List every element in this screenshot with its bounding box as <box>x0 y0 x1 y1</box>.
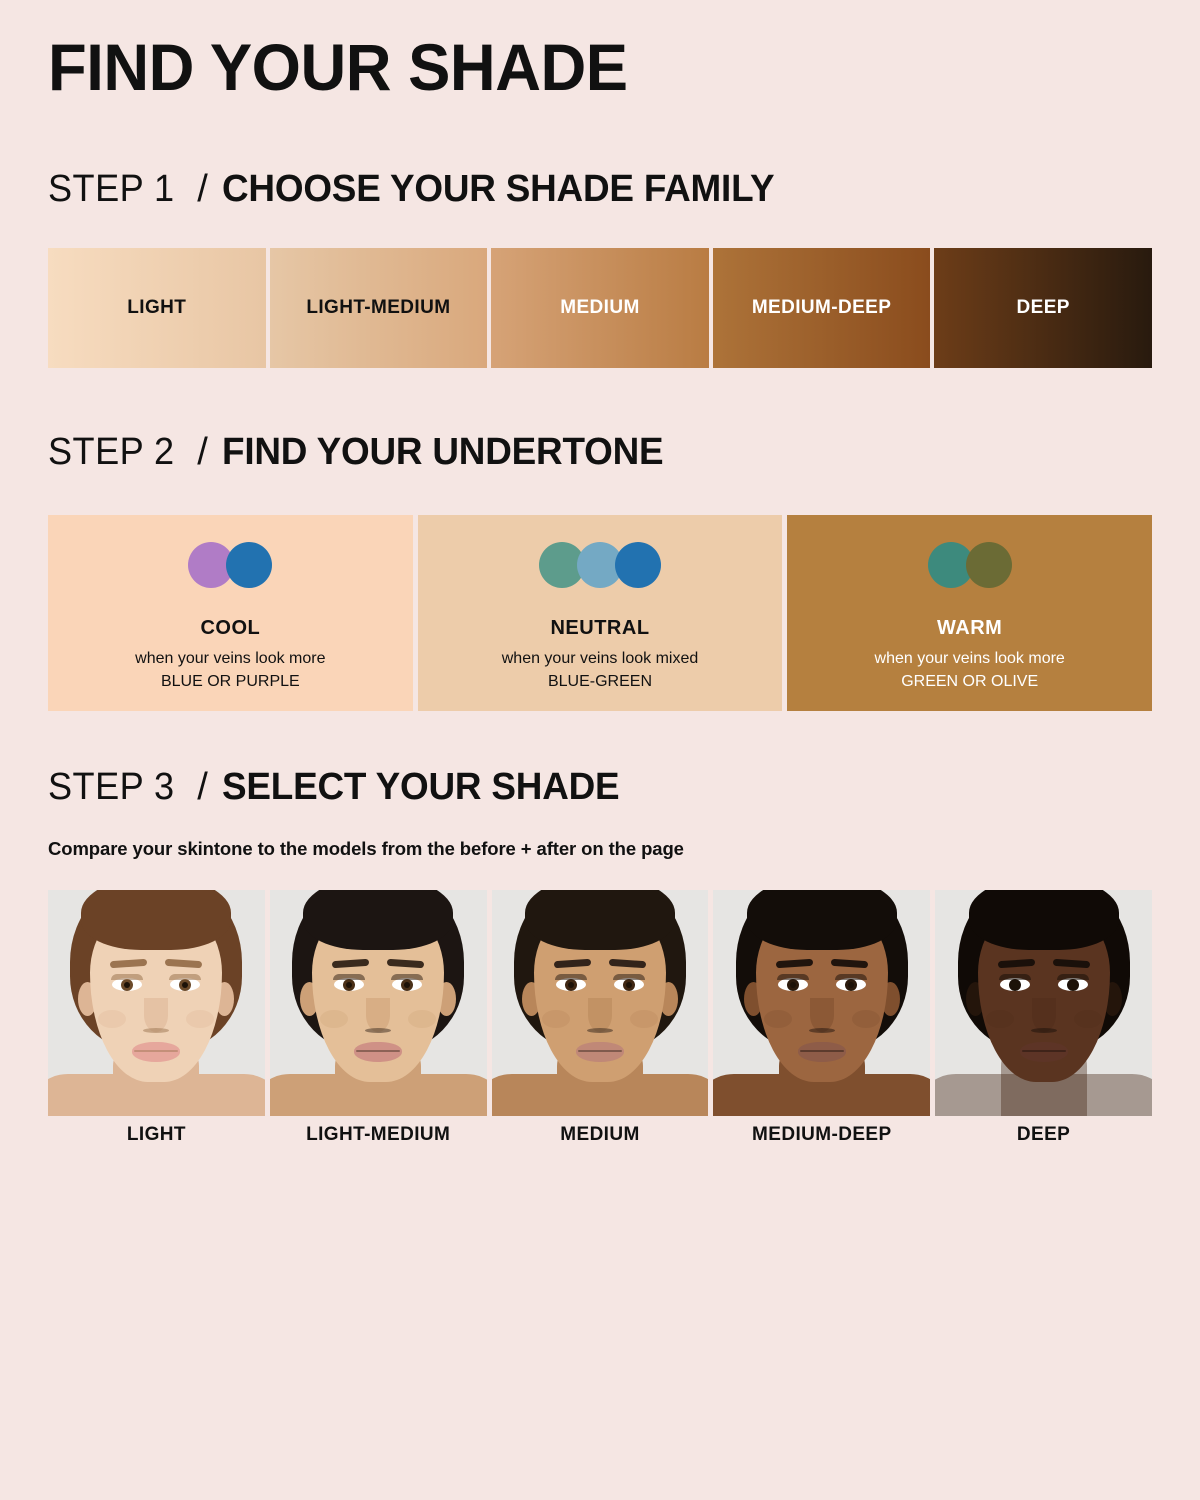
model-nostrils <box>809 1028 835 1033</box>
model-iris <box>787 979 799 991</box>
undertone-description-line-1: when your veins look mixed <box>502 648 699 671</box>
undertone-panel[interactable]: COOLwhen your veins look moreBLUE OR PUR… <box>48 515 413 711</box>
step-2-separator: / <box>197 431 208 474</box>
step-1-number: STEP 1 <box>48 168 175 211</box>
step-3-title: SELECT YOUR SHADE <box>222 766 619 809</box>
shade-family-swatch[interactable]: MEDIUM-DEEP <box>713 248 931 368</box>
model-lip-line <box>134 1050 178 1052</box>
model-iris <box>121 979 133 991</box>
step-1-title: CHOOSE YOUR SHADE FAMILY <box>222 168 774 211</box>
model-cheek-left <box>542 1010 570 1028</box>
model-eyelid-right <box>169 974 201 980</box>
step-2-heading: STEP 2 / FIND YOUR UNDERTONE <box>48 431 677 474</box>
model-photo[interactable] <box>935 890 1152 1116</box>
model-hairline <box>81 890 231 950</box>
shade-family-label: DEEP <box>1017 297 1070 319</box>
undertone-description-line-1: when your veins look more <box>875 648 1065 671</box>
model-eyelid-left <box>555 974 587 980</box>
model-cheek-left <box>320 1010 348 1028</box>
model-eyelid-right <box>391 974 423 980</box>
model-cheek-right <box>852 1010 880 1028</box>
model-eyelid-left <box>333 974 365 980</box>
model-nostrils <box>365 1028 391 1033</box>
model-photo[interactable] <box>713 890 930 1116</box>
model-iris <box>565 979 577 991</box>
undertone-color-dot <box>226 542 272 588</box>
undertone-color-dot <box>966 542 1012 588</box>
undertone-description: when your veins look mixedBLUE-GREEN <box>502 648 699 693</box>
model-shade-label: LIGHT-MEDIUM <box>270 1124 487 1156</box>
undertone-description: when your veins look moreBLUE OR PURPLE <box>135 648 325 693</box>
undertone-color-dot <box>615 542 661 588</box>
model-iris <box>179 979 191 991</box>
page-title: FIND YOUR SHADE <box>48 34 628 100</box>
shade-family-label: MEDIUM <box>560 297 639 319</box>
model-eyelid-left <box>777 974 809 980</box>
step-3-number: STEP 3 <box>48 766 175 809</box>
model-cheek-left <box>764 1010 792 1028</box>
shade-family-swatch[interactable]: LIGHT-MEDIUM <box>270 248 488 368</box>
model-hairline <box>525 890 675 950</box>
model-lips <box>1020 1042 1068 1062</box>
model-cheek-right <box>630 1010 658 1028</box>
model-lips <box>576 1042 624 1062</box>
model-lip-line <box>800 1050 844 1052</box>
model-shade-label: DEEP <box>935 1124 1152 1156</box>
undertone-panel-row: COOLwhen your veins look moreBLUE OR PUR… <box>48 515 1152 711</box>
model-iris <box>1009 979 1021 991</box>
model-cheek-right <box>1074 1010 1102 1028</box>
model-hairline <box>303 890 453 950</box>
step-3-heading: STEP 3 / SELECT YOUR SHADE <box>48 766 632 809</box>
model-hairline <box>969 890 1119 950</box>
model-label-row: LIGHTLIGHT-MEDIUMMEDIUMMEDIUM-DEEPDEEP <box>48 1124 1152 1156</box>
shade-family-label: MEDIUM-DEEP <box>752 297 892 319</box>
shade-family-swatch[interactable]: LIGHT <box>48 248 266 368</box>
model-cheek-left <box>986 1010 1014 1028</box>
shade-family-swatch[interactable]: DEEP <box>934 248 1152 368</box>
model-iris <box>343 979 355 991</box>
undertone-description-line-2: GREEN OR OLIVE <box>875 671 1065 694</box>
model-lip-line <box>1022 1050 1066 1052</box>
undertone-panel[interactable]: NEUTRALwhen your veins look mixedBLUE-GR… <box>418 515 783 711</box>
model-eyelid-right <box>835 974 867 980</box>
shade-family-swatch[interactable]: MEDIUM <box>491 248 709 368</box>
model-iris <box>623 979 635 991</box>
undertone-panel[interactable]: WARMwhen your veins look moreGREEN OR OL… <box>787 515 1152 711</box>
model-nose <box>810 998 834 1032</box>
undertone-description: when your veins look moreGREEN OR OLIVE <box>875 648 1065 693</box>
model-hairline <box>747 890 897 950</box>
model-shade-label: MEDIUM <box>492 1124 709 1156</box>
model-photo-row <box>48 890 1152 1116</box>
model-lip-line <box>356 1050 400 1052</box>
step-1-separator: / <box>197 168 208 211</box>
undertone-name: NEUTRAL <box>550 617 649 640</box>
step-3-separator: / <box>197 766 208 809</box>
model-lips <box>354 1042 402 1062</box>
shade-family-bar: LIGHTLIGHT-MEDIUMMEDIUMMEDIUM-DEEPDEEP <box>48 248 1152 368</box>
undertone-vein-color-icon <box>539 542 661 588</box>
model-photo[interactable] <box>270 890 487 1116</box>
undertone-name: WARM <box>937 617 1002 640</box>
model-photo[interactable] <box>48 890 265 1116</box>
model-shade-label: MEDIUM-DEEP <box>713 1124 930 1156</box>
undertone-description-line-2: BLUE OR PURPLE <box>135 671 325 694</box>
step-2-title: FIND YOUR UNDERTONE <box>222 431 663 474</box>
shade-finder-page: FIND YOUR SHADE STEP 1 / CHOOSE YOUR SHA… <box>0 0 1200 1500</box>
model-lips <box>798 1042 846 1062</box>
model-photo[interactable] <box>492 890 709 1116</box>
model-iris <box>401 979 413 991</box>
undertone-description-line-2: BLUE-GREEN <box>502 671 699 694</box>
model-eyelid-left <box>999 974 1031 980</box>
undertone-name: COOL <box>200 617 260 640</box>
model-nose <box>588 998 612 1032</box>
model-iris <box>1067 979 1079 991</box>
model-lip-line <box>578 1050 622 1052</box>
shade-family-label: LIGHT <box>127 297 186 319</box>
model-eyelid-left <box>111 974 143 980</box>
undertone-description-line-1: when your veins look more <box>135 648 325 671</box>
model-nostrils <box>587 1028 613 1033</box>
model-iris <box>845 979 857 991</box>
step-3-subtitle: Compare your skintone to the models from… <box>48 838 684 860</box>
model-shade-label: LIGHT <box>48 1124 265 1156</box>
model-nostrils <box>1031 1028 1057 1033</box>
model-cheek-right <box>408 1010 436 1028</box>
model-eyelid-right <box>613 974 645 980</box>
undertone-vein-color-icon <box>928 542 1012 588</box>
step-1-heading: STEP 1 / CHOOSE YOUR SHADE FAMILY <box>48 168 791 211</box>
model-nose <box>1032 998 1056 1032</box>
step-2-number: STEP 2 <box>48 431 175 474</box>
shade-family-label: LIGHT-MEDIUM <box>306 297 450 319</box>
model-eyelid-right <box>1057 974 1089 980</box>
undertone-vein-color-icon <box>188 542 272 588</box>
